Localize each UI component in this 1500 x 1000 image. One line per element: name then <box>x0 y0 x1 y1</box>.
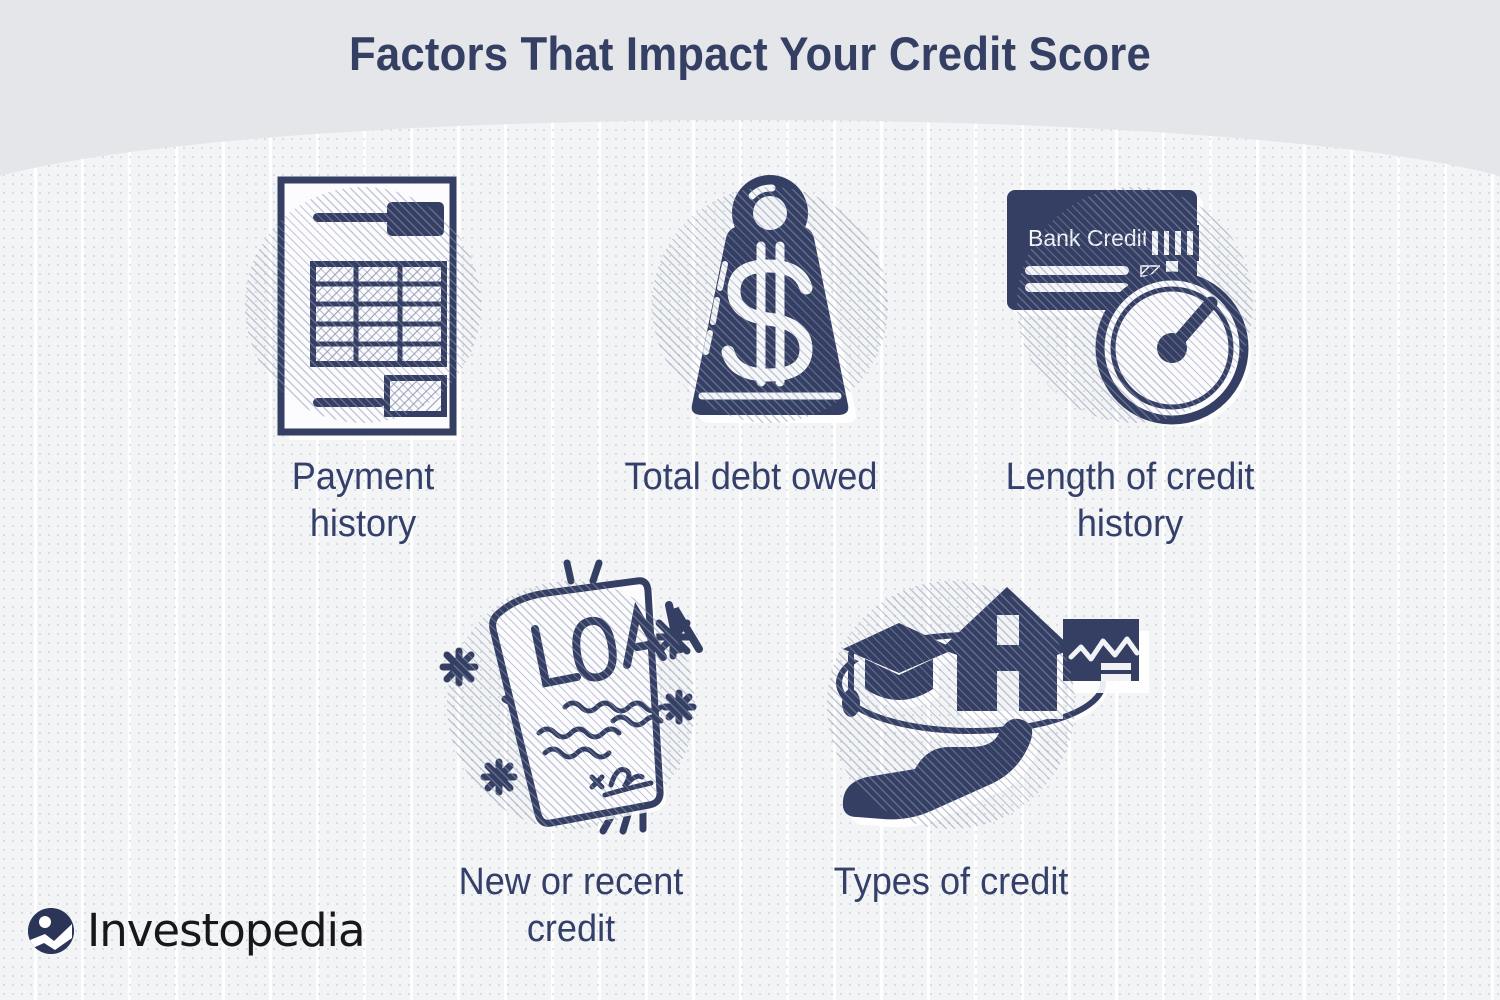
factor-label: Length of credit history <box>988 454 1273 548</box>
weight-dollar-icon <box>620 160 920 450</box>
icon-blob <box>827 581 1075 829</box>
credit-card-stopwatch-icon: Bank Credit Card <box>985 160 1285 450</box>
icon-blob <box>245 187 481 423</box>
factor-label: New or recent credit <box>447 859 696 953</box>
infographic-canvas: Factors That Impact Your Credit Score <box>0 0 1500 1000</box>
investopedia-i-icon <box>28 908 74 954</box>
chart-card-icon <box>1063 619 1149 693</box>
icon-blob <box>1017 187 1253 423</box>
investopedia-logo[interactable]: Investopedia <box>28 908 365 954</box>
factor-label: Total debt owed <box>609 454 894 501</box>
factor-label: Payment history <box>239 454 488 548</box>
factor-length-of-credit-history: Bank Credit Card <box>985 160 1285 548</box>
document-table-icon <box>233 160 493 450</box>
page-title: Factors That Impact Your Credit Score <box>53 26 1448 81</box>
brand-name: Investopedia <box>87 908 365 954</box>
factor-new-or-recent-credit: New or recent credit <box>440 555 702 953</box>
factor-types-of-credit: Types of credit <box>820 555 1082 906</box>
hand-holding-assets-icon <box>821 555 1081 855</box>
factor-total-debt-owed: Total debt owed <box>620 160 920 501</box>
factor-payment-history: Payment history <box>232 160 494 548</box>
icon-blob <box>652 187 888 423</box>
icon-blob <box>447 581 695 829</box>
loan-document-icon <box>441 555 701 855</box>
factor-label: Types of credit <box>809 859 1094 906</box>
